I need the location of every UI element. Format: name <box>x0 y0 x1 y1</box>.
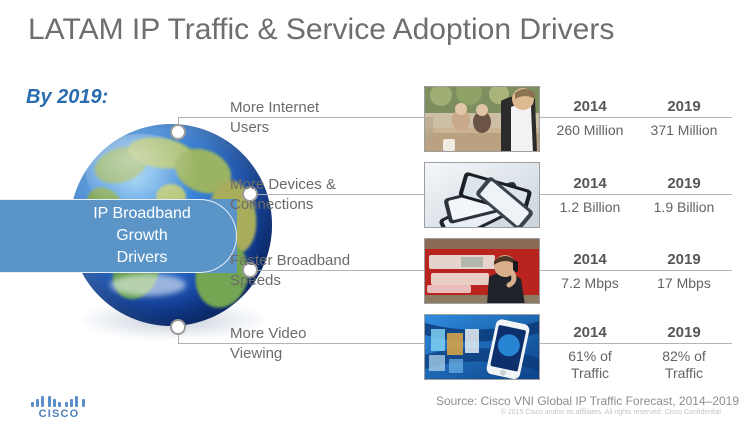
row-thumbnail <box>424 162 540 228</box>
year-header-a: 2014 <box>544 324 636 341</box>
value-cell-a: 61% of Traffic <box>544 348 636 382</box>
value-line-1: 82% of <box>638 348 730 365</box>
page-title: LATAM IP Traffic & Service Adoption Driv… <box>28 13 614 47</box>
cisco-bridge-icon <box>31 396 87 407</box>
connector-node <box>170 319 186 335</box>
cloud-shape <box>110 274 186 296</box>
smartphone-video-streaming-photo <box>425 315 540 380</box>
callout-line-3: Drivers <box>62 247 222 269</box>
value-line-1: 17 Mbps <box>638 275 730 292</box>
year-header-a: 2014 <box>544 251 636 268</box>
value-line-2: Traffic <box>638 365 730 382</box>
year-header-b: 2019 <box>638 98 730 115</box>
by-year-heading: By 2019: <box>26 86 108 109</box>
year-header-b: 2019 <box>638 251 730 268</box>
source-note: Source: Cisco VNI Global IP Traffic Fore… <box>0 394 739 408</box>
connector-horizontal <box>178 117 224 118</box>
connector-horizontal <box>178 343 224 344</box>
row-thumbnail <box>424 86 540 152</box>
value-cell-b: 82% of Traffic <box>638 348 730 382</box>
row-label: More Video Viewing <box>230 324 415 364</box>
year-header-b: 2019 <box>638 324 730 341</box>
row-label-line-2: Users <box>230 118 415 138</box>
year-header-a: 2014 <box>544 175 636 192</box>
value-line-1: 1.9 Billion <box>638 199 730 216</box>
row-label-line-1: More Internet <box>230 98 415 118</box>
slide-canvas: LATAM IP Traffic & Service Adoption Driv… <box>0 0 751 430</box>
row-label: Faster Broadband Speeds <box>230 251 415 291</box>
people-at-cafe-with-laptop-photo <box>425 87 540 152</box>
row-label-line-1: More Video <box>230 324 415 344</box>
copyright-note: © 2015 Cisco and/or its affiliates. All … <box>0 409 721 416</box>
callout-banner-text: IP Broadband Growth Drivers <box>62 203 222 269</box>
callout-line-2: Growth <box>62 225 222 247</box>
value-line-2: Traffic <box>544 365 636 382</box>
row-rule <box>540 194 732 195</box>
value-cell-a: 1.2 Billion <box>544 199 636 216</box>
value-line-1: 371 Million <box>638 122 730 139</box>
value-cell-b: 17 Mbps <box>638 275 730 292</box>
row-label-line-1: Faster Broadband <box>230 251 415 271</box>
value-cell-a: 7.2 Mbps <box>544 275 636 292</box>
row-label-line-2: Viewing <box>230 344 415 364</box>
value-cell-b: 371 Million <box>638 122 730 139</box>
row-rule <box>540 117 732 118</box>
cisco-wordmark: CISCO <box>22 408 96 420</box>
man-on-phone-by-train-photo <box>425 239 540 304</box>
value-line-1: 61% of <box>544 348 636 365</box>
row-label: More Devices & Connections <box>230 175 415 215</box>
connector-node <box>170 124 186 140</box>
row-thumbnail <box>424 314 540 380</box>
value-cell-b: 1.9 Billion <box>638 199 730 216</box>
value-line-1: 7.2 Mbps <box>544 275 636 292</box>
value-line-1: 260 Million <box>544 122 636 139</box>
callout-line-1: IP Broadband <box>62 203 222 225</box>
row-label-line-2: Connections <box>230 195 415 215</box>
cisco-logo: CISCO <box>22 396 96 424</box>
row-label-line-2: Speeds <box>230 271 415 291</box>
value-cell-a: 260 Million <box>544 122 636 139</box>
stack-of-tablets-photo <box>425 163 540 228</box>
row-rule <box>540 343 732 344</box>
row-label: More Internet Users <box>230 98 415 138</box>
value-line-1: 1.2 Billion <box>544 199 636 216</box>
year-header-a: 2014 <box>544 98 636 115</box>
row-rule <box>540 270 732 271</box>
row-label-line-1: More Devices & <box>230 175 415 195</box>
row-thumbnail <box>424 238 540 304</box>
year-header-b: 2019 <box>638 175 730 192</box>
